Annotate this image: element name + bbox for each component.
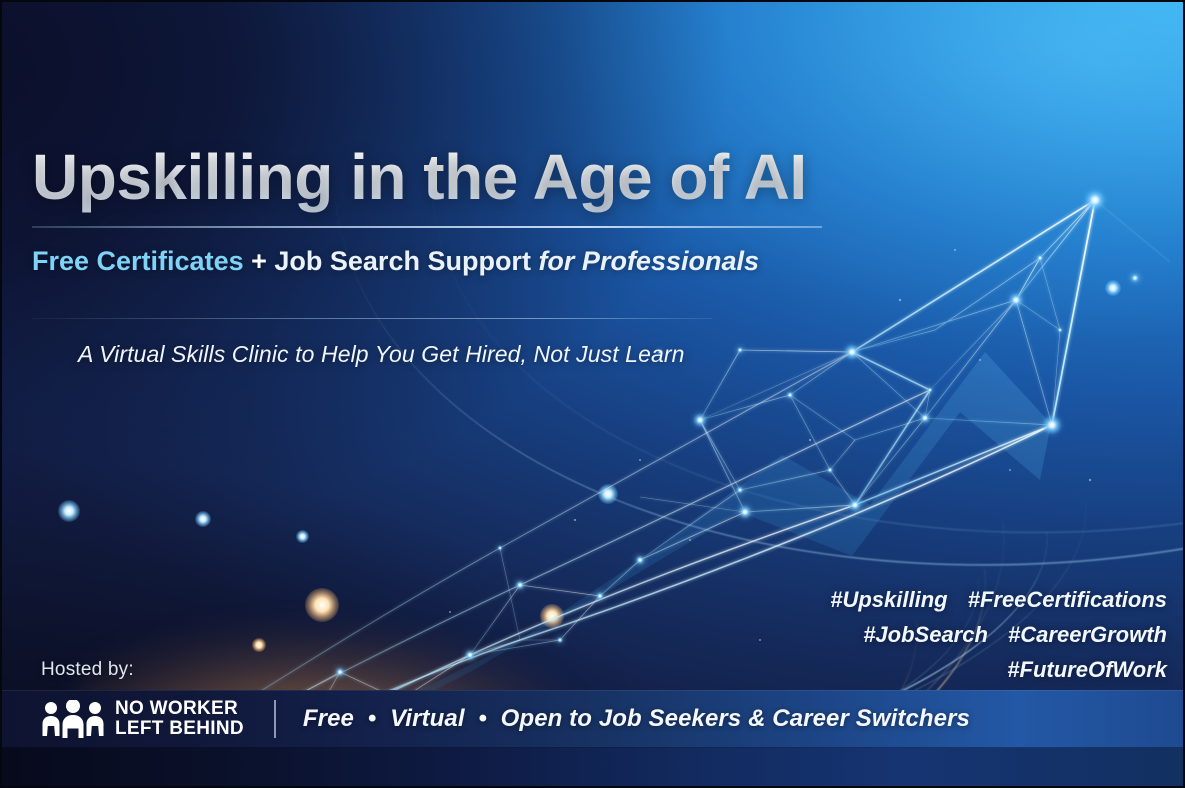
hosted-by-label: Hosted by: — [41, 659, 134, 681]
hashtag-line-3: #FutureOfWork — [830, 652, 1167, 687]
footer-tagline: Free • Virtual • Open to Job Seekers & C… — [303, 705, 970, 733]
banner-content: Upskilling in the Age of AI Free Certifi… — [0, 0, 1185, 788]
hashtag-freecertifications: #FreeCertifications — [968, 587, 1167, 612]
host-logo-text: NO WORKER LEFT BEHIND — [115, 699, 244, 739]
hashtag-jobsearch: #JobSearch — [863, 622, 988, 647]
host-logo-line-2: LEFT BEHIND — [115, 719, 244, 739]
subtitle-job-search-support: Job Search Support — [274, 246, 538, 276]
footer-bullet-1: • — [368, 705, 377, 732]
hashtag-line-1: #Upskilling #FreeCertifications — [830, 582, 1167, 617]
page-title: Upskilling in the Age of AI — [32, 140, 807, 214]
footer-bullet-2: • — [478, 705, 487, 732]
footer-tag-audience: Open to Job Seekers & Career Switchers — [501, 705, 970, 732]
hashtag-upskilling: #Upskilling — [830, 587, 947, 612]
footer-underband — [0, 748, 1185, 788]
hashtag-careergrowth: #CareerGrowth — [1008, 622, 1167, 647]
footer-bar: NO WORKER LEFT BEHIND Free • Virtual • O… — [0, 690, 1185, 748]
host-logo-line-1: NO WORKER — [115, 699, 244, 719]
hashtag-line-2: #JobSearch #CareerGrowth — [830, 617, 1167, 652]
footer-divider — [274, 700, 276, 738]
footer-tag-free: Free — [303, 705, 354, 732]
subtitle-for-professionals: for Professionals — [538, 246, 759, 276]
event-tagline: A Virtual Skills Clinic to Help You Get … — [78, 341, 685, 368]
promotional-banner: Upskilling in the Age of AI Free Certifi… — [0, 0, 1185, 788]
hashtag-group: #Upskilling #FreeCertifications #JobSear… — [830, 582, 1167, 687]
subtitle-free-certificates: Free Certificates — [32, 246, 244, 276]
title-divider — [32, 226, 822, 228]
subtitle-divider — [32, 318, 712, 319]
host-logo: NO WORKER LEFT BEHIND — [41, 699, 244, 739]
footer-tag-virtual: Virtual — [390, 705, 465, 732]
three-people-icon — [41, 700, 105, 738]
hashtag-futureofwork: #FutureOfWork — [1007, 657, 1167, 682]
subtitle-plus: + — [244, 246, 275, 276]
subtitle: Free Certificates + Job Search Support f… — [32, 246, 759, 277]
